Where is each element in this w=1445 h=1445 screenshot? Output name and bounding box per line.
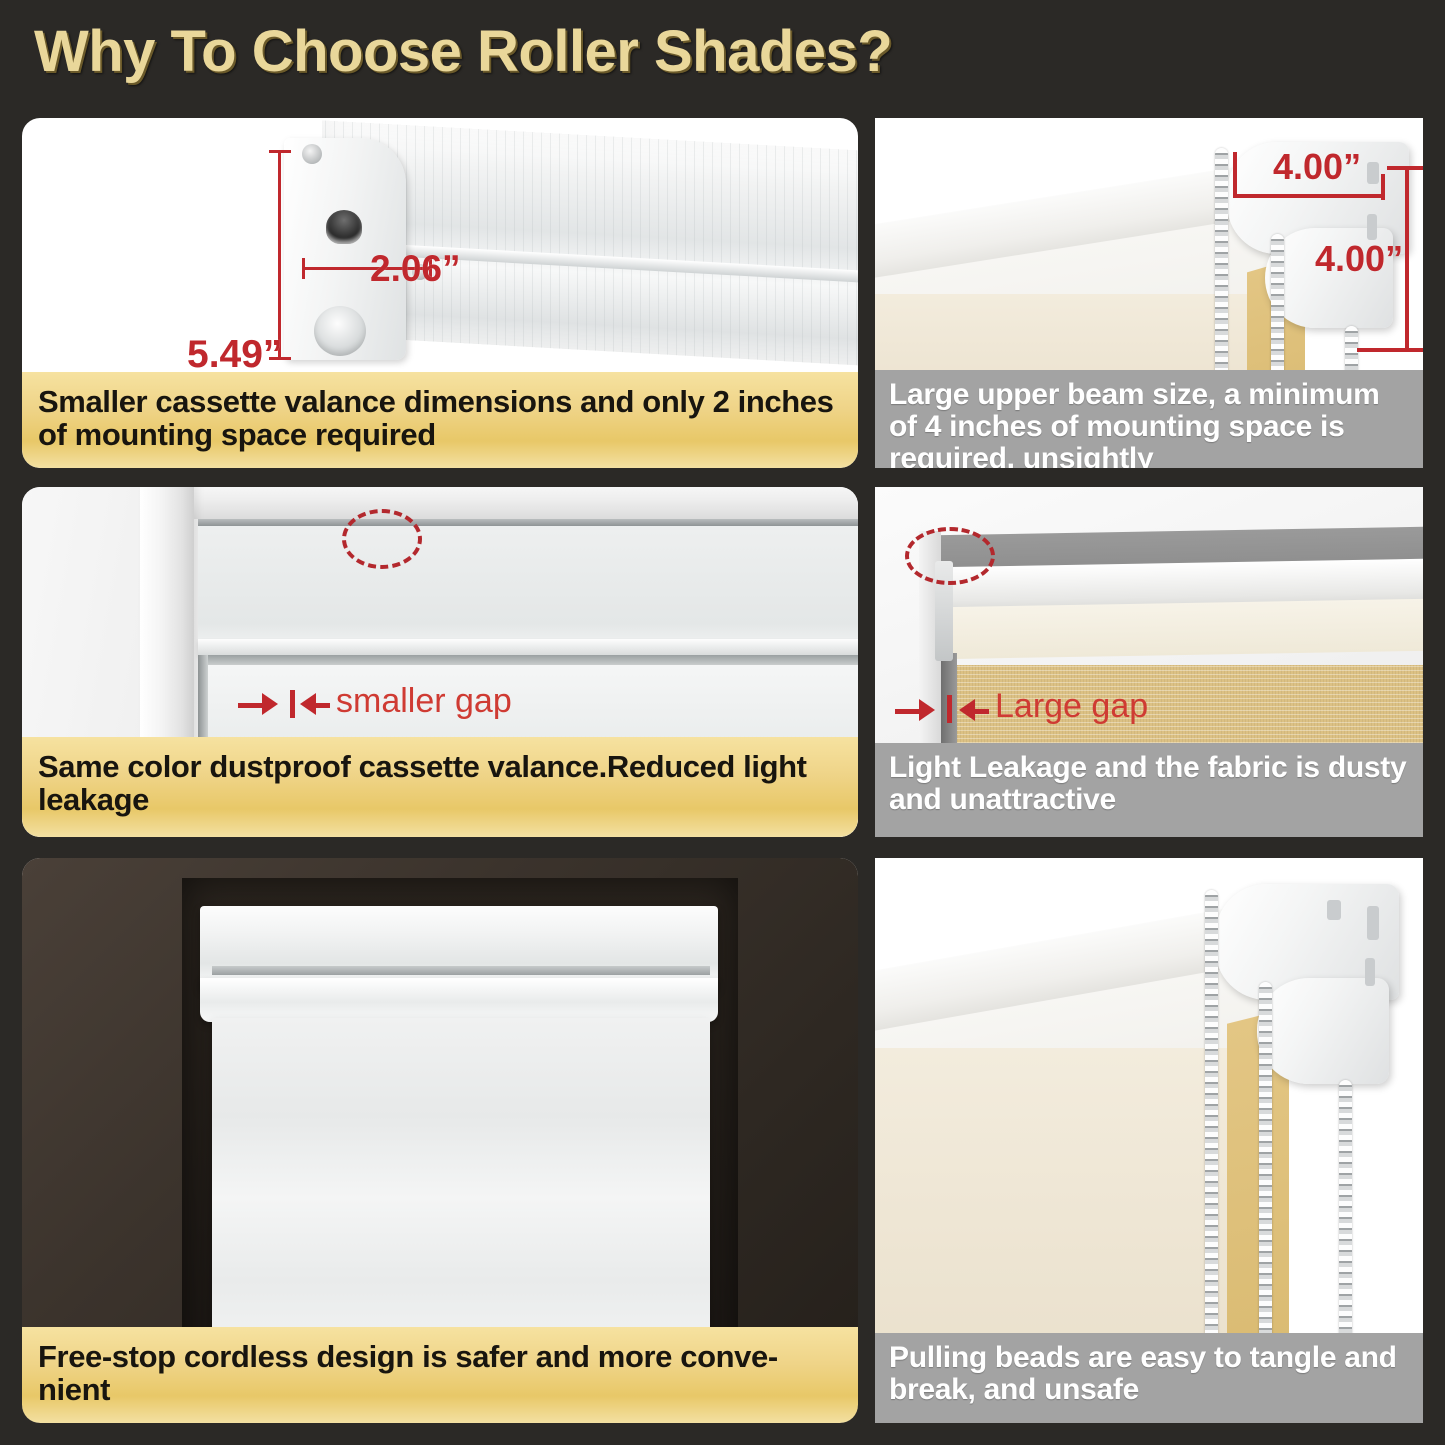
page-title: Why To Choose Roller Shades? [34,18,892,85]
panel-cassette-dimensions: 5.49” 2.06” Smaller cassette valance dim… [22,118,858,468]
panel-caption-pulling-beads: Pulling beads are easy to tangle and bre… [875,1333,1423,1423]
height-dimension-label: 5.49” [187,333,282,377]
infographic-root: Why To Choose Roller Shades? 5.49” 2.06”… [0,0,1445,1445]
large-gap-label: Large gap [995,687,1148,726]
height-dimension-line [278,150,281,360]
panel-dustproof-valance: smaller gap Same color dustproof cassett… [22,487,858,837]
highlight-ellipse [342,509,422,569]
panel-caption-cassette-dimensions: Smaller cassette valance dimensions and … [22,372,858,468]
panel-light-leakage: Large gap Light Leakage and the fabric i… [875,487,1423,837]
beam-width-label: 4.00” [1273,146,1361,188]
panel-caption-light-leakage: Light Leakage and the fabric is dusty an… [875,743,1423,837]
highlight-ellipse [905,527,995,585]
panel-caption-dustproof-valance: Same color dustproof cassette valance.Re… [22,737,858,837]
width-dimension-label: 2.06” [370,248,461,290]
panel-pulling-beads: Pulling beads are easy to tangle and bre… [875,858,1423,1423]
panel-caption-large-beam: Large upper beam size, a minimum of 4 in… [875,370,1423,468]
beam-height-label: 4.00” [1315,238,1403,280]
panel-cordless-design: Free-stop cordless design is safer and m… [22,858,858,1423]
panel-caption-cordless-design: Free-stop cordless design is safer and m… [22,1327,858,1423]
smaller-gap-label: smaller gap [336,682,512,721]
panel-large-beam: 4.00” 4.00” Large upper beam size, a min… [875,118,1423,468]
